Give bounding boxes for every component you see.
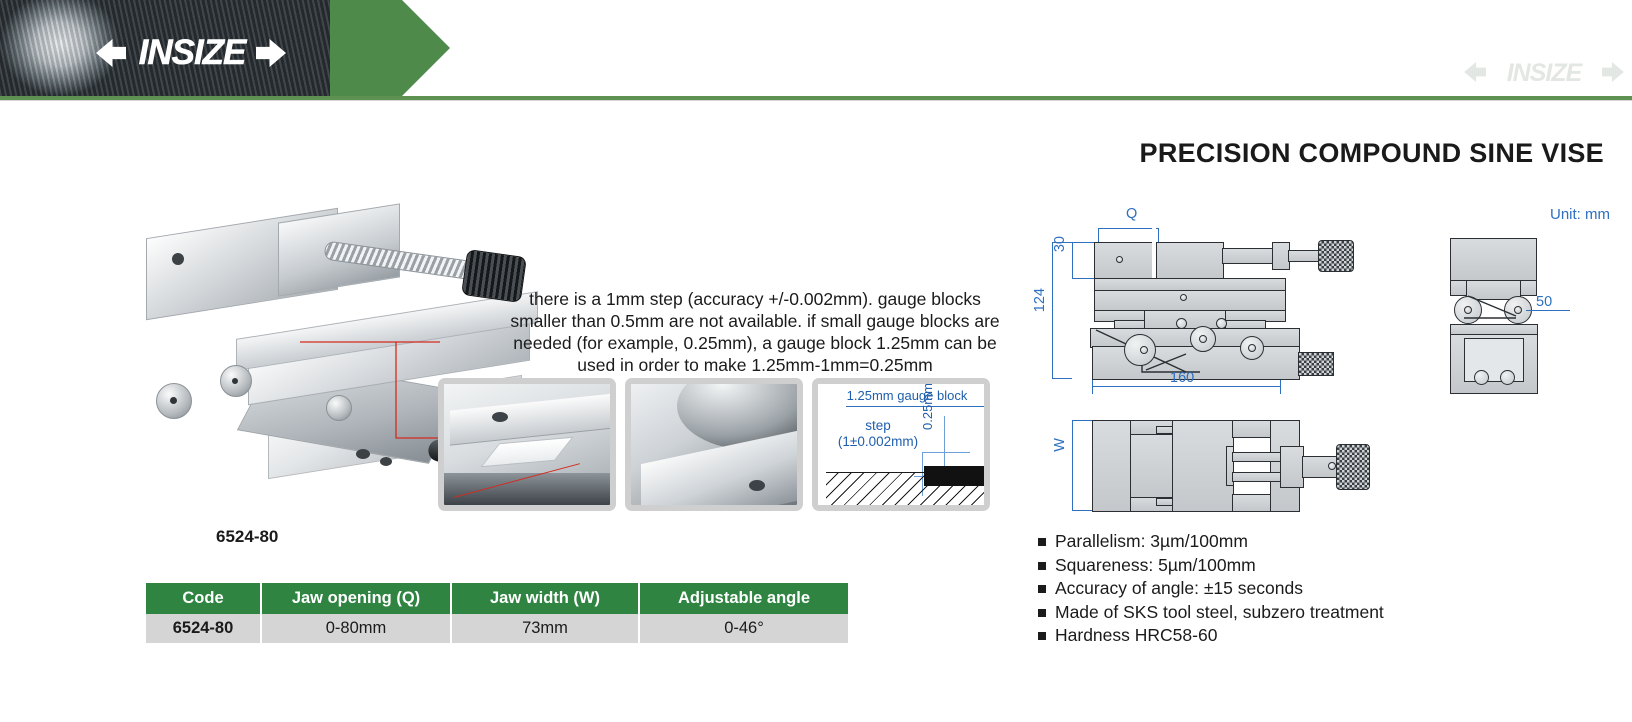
specification-table: Code Jaw opening (Q) Jaw width (W) Adjus…: [146, 583, 848, 643]
thumb1-foreground: [444, 473, 616, 505]
logo-text: INSIZE: [122, 33, 262, 73]
sv-fixed-jaw: [1094, 242, 1154, 280]
feature-item: Parallelism: 3µm/100mm: [1038, 530, 1384, 554]
description-text: there is a 1mm step (accuracy +/-0.002mm…: [505, 288, 1005, 376]
bullet-square-icon: [1038, 609, 1046, 617]
tv-top-rail-r: [1232, 420, 1272, 438]
header-gray-rule: [0, 100, 1632, 101]
thumbnail-roller-detail[interactable]: [625, 378, 803, 511]
tv-center-plate: [1130, 434, 1174, 498]
feature-label: Accuracy of angle: ±15 seconds: [1055, 577, 1303, 601]
tv-bottom-rail-r: [1232, 494, 1272, 512]
gauge-block-label: 1.25mm gauge block: [826, 388, 988, 403]
tv-collar: [1280, 446, 1304, 488]
sv-hole-c: [1176, 318, 1187, 329]
dim-30-ext-bottom: [1072, 278, 1094, 279]
gauge-block-leader-line: [846, 406, 986, 407]
dim-160-ext-left: [1092, 380, 1093, 394]
dim-q-line: [1098, 228, 1158, 229]
sv-base-knurl: [1298, 352, 1334, 376]
vise-hole-2: [356, 449, 370, 459]
sv-shaft: [1288, 250, 1320, 262]
tv-pin: [1328, 462, 1336, 470]
ev-foot-right: [1500, 370, 1515, 385]
ev-angle-lines: [1450, 294, 1542, 328]
dim-124-line: [1052, 242, 1053, 378]
dim-50-label: 50: [1536, 294, 1552, 310]
dim-124-ext-bottom: [1052, 378, 1072, 379]
header-green-chevron: [330, 0, 450, 96]
gauge-block-shape: [924, 466, 986, 486]
callout-lines: [300, 330, 460, 450]
dim-30-line: [1072, 242, 1073, 278]
th-jaw-width: Jaw width (W): [451, 583, 639, 614]
th-jaw-opening: Jaw opening (Q): [261, 583, 451, 614]
th-code: Code: [146, 583, 261, 614]
tv-mid-block: [1172, 420, 1234, 512]
thickness-label: 0.25mm: [920, 414, 990, 430]
thumb1-hole: [492, 412, 508, 422]
table-header-row: Code Jaw opening (Q) Jaw width (W) Adjus…: [146, 583, 848, 614]
tv-screw-bottom: [1232, 472, 1282, 482]
feature-item: Made of SKS tool steel, subzero treatmen…: [1038, 601, 1384, 625]
tv-left-block: [1092, 420, 1132, 512]
feature-item: Accuracy of angle: ±15 seconds: [1038, 577, 1384, 601]
sv-roller-left-pin: [1140, 346, 1148, 354]
thumb2-hole: [749, 480, 765, 491]
thumbnail-gauge-block-on-step[interactable]: [438, 378, 616, 511]
cell-jaw-opening: 0-80mm: [261, 614, 451, 643]
table-row: 6524-80 0-80mm 73mm 0-46°: [146, 614, 848, 643]
feature-label: Parallelism: 3µm/100mm: [1055, 530, 1248, 554]
feature-item: Squareness: 5µm/100mm: [1038, 554, 1384, 578]
watermark-left-arrow-icon: [1464, 62, 1486, 82]
dim-124-label: 124: [1032, 288, 1048, 312]
dim-160-ext-right: [1280, 380, 1281, 394]
step-dim-horz: [922, 452, 970, 453]
feature-label: Hardness HRC58-60: [1055, 624, 1217, 648]
dim-30-label: 30: [1052, 236, 1068, 252]
unit-label: Unit: mm: [1550, 206, 1610, 223]
cell-adjustable-angle: 0-46°: [639, 614, 848, 643]
insize-watermark-logo: INSIZE: [1464, 58, 1624, 88]
tv-screw-top: [1232, 452, 1282, 462]
feature-item: Hardness HRC58-60: [1038, 624, 1384, 648]
page-header: INSIZE: [0, 0, 1632, 100]
bullet-square-icon: [1038, 538, 1046, 546]
watermark-text: INSIZE: [1484, 58, 1604, 88]
ev-foot-left: [1474, 370, 1489, 385]
vise-pin-2: [232, 378, 238, 384]
feature-label: Squareness: 5µm/100mm: [1055, 554, 1256, 578]
dim-124-ext-top: [1052, 242, 1072, 243]
bullet-square-icon: [1038, 632, 1046, 640]
watermark-right-arrow-icon: [1602, 62, 1624, 82]
dim-w-ext-top: [1072, 420, 1092, 421]
gauge-block-leader-vert: [985, 406, 986, 468]
dim-q-label: Q: [1126, 206, 1137, 222]
bullet-square-icon: [1038, 562, 1046, 570]
feature-label: Made of SKS tool steel, subzero treatmen…: [1055, 601, 1384, 625]
sv-screw-body: [1222, 248, 1274, 264]
vise-hole-3: [380, 457, 392, 466]
insize-logo: INSIZE: [96, 33, 286, 73]
thumbnail-step-diagram[interactable]: 1.25mm gauge block step (1±0.002mm) 0.25…: [812, 378, 990, 511]
sv-knob: [1318, 240, 1354, 272]
bullet-square-icon: [1038, 585, 1046, 593]
step-label: step (1±0.002mm): [828, 418, 928, 450]
feature-list: Parallelism: 3µm/100mm Squareness: 5µm/1…: [1038, 530, 1384, 648]
model-number-label: 6524-80: [216, 527, 278, 547]
technical-drawings: Unit: mm Q 30 124: [1030, 198, 1620, 518]
sv-hole-d: [1216, 318, 1227, 329]
dim-50-leader: [1526, 310, 1570, 311]
dim-30-ext-top: [1072, 242, 1094, 243]
sv-roller-mid-pin: [1199, 335, 1207, 343]
cell-jaw-width: 73mm: [451, 614, 639, 643]
dim-w-ext-bottom: [1072, 510, 1092, 511]
ev-upper-body: [1450, 238, 1537, 282]
sv-hole-b: [1180, 294, 1187, 301]
ev-base-cavity: [1464, 338, 1524, 382]
dim-160-label: 160: [1170, 370, 1194, 386]
dim-w-label: W: [1052, 438, 1068, 452]
vise-pin-1: [170, 397, 177, 404]
page-title: PRECISION COMPOUND SINE VISE: [1140, 138, 1604, 169]
sv-hole-a: [1116, 256, 1123, 263]
dim-160-line: [1092, 386, 1280, 387]
vise-hole-1: [172, 253, 184, 265]
th-adjustable-angle: Adjustable angle: [639, 583, 848, 614]
sv-roller-right-pin: [1248, 344, 1256, 352]
dim-w-line: [1072, 420, 1073, 510]
thickness-dim-vert: [944, 416, 945, 472]
sv-slide-plate-2: [1094, 290, 1286, 312]
sv-movable-jaw: [1156, 242, 1224, 280]
tv-knob: [1336, 444, 1370, 490]
cell-code: 6524-80: [146, 614, 261, 643]
